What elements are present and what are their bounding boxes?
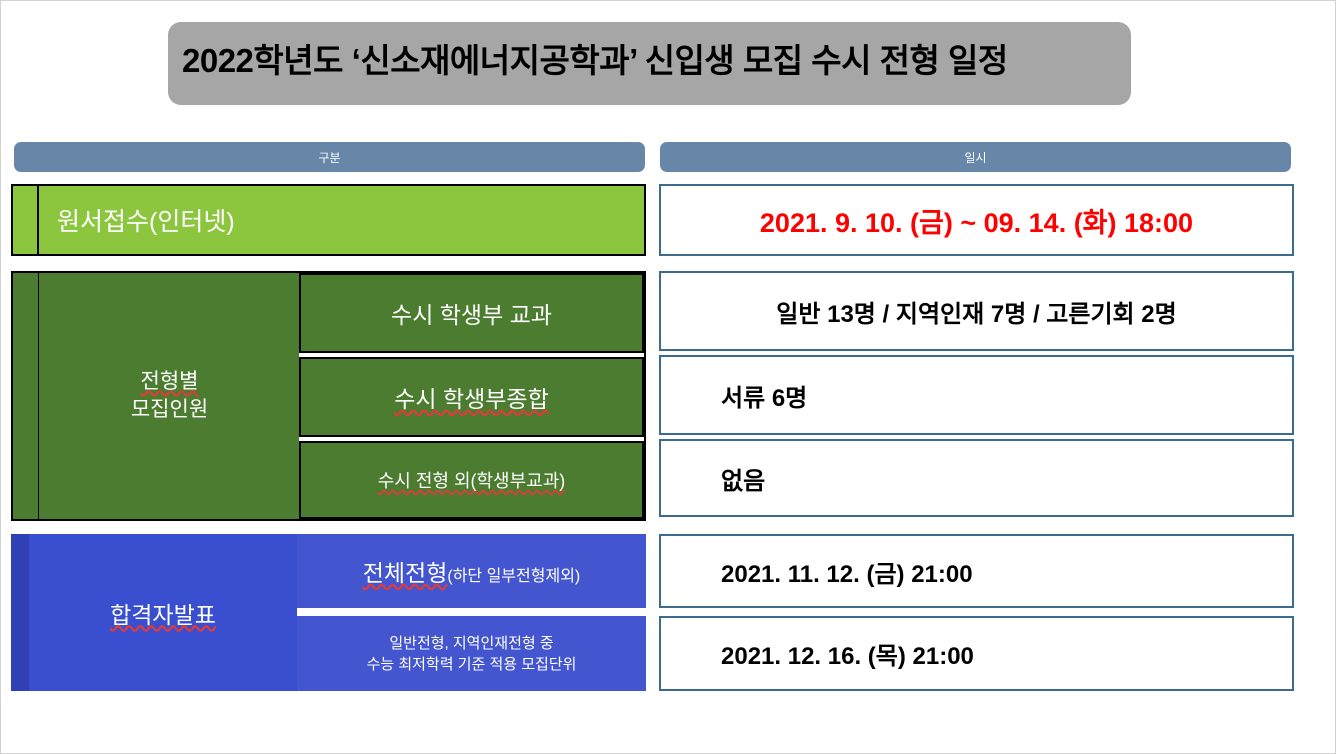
quota-value-other: 없음 (721, 461, 1292, 496)
quota-subcell-susi-gyogwa-label: 수시 학생부 교과 (391, 296, 552, 330)
slide-page: 2022학년도 ‘신소재에너지공학과’ 신입생 모집 수시 전형 일정 구분 일… (0, 0, 1336, 754)
column-header-datetime: 일시 (660, 142, 1291, 172)
quota-value-gyogwa: 일반 13명 / 지역인재 7명 / 고른기회 2명 (661, 294, 1292, 329)
row-announcement-label: 합격자발표 (29, 534, 297, 691)
announcement-subcell-all: 전체전형(하단 일부전형제외) (297, 534, 646, 608)
quota-subcell-susi-jonghap: 수시 학생부종합 (299, 357, 644, 437)
announcement-subcell-minimum-line2: 수능 최저학력 기준 적용 모집단위 (367, 656, 577, 673)
row-application-accent-bar (13, 186, 39, 254)
row-quota-subcells: 수시 학생부 교과 수시 학생부종합 수시 전형 외(학생부교과) (299, 273, 644, 519)
row-quota-label-block: 전형별 모집인원 수시 학생부 교과 수시 학생부종합 수시 전형 외(학생부교… (11, 271, 646, 521)
row-announcement-accent-bar (11, 534, 29, 691)
announcement-value-all: 2021. 11. 12. (금) 21:00 (721, 554, 1292, 589)
row-application-label-block: 원서접수(인터넷) (11, 184, 646, 256)
row-announcement-subcells: 전체전형(하단 일부전형제외) 일반전형, 지역인재전형 중 수능 최저학력 기… (297, 534, 646, 691)
row-announcement-label-block: 합격자발표 전체전형(하단 일부전형제외) 일반전형, 지역인재전형 중 수능 … (11, 534, 646, 691)
quota-value-jonghap: 서류 6명 (721, 378, 1292, 413)
quota-value-box-gyogwa: 일반 13명 / 지역인재 7명 / 고른기회 2명 (659, 271, 1294, 351)
row-application-value: 2021. 9. 10. (금) ~ 09. 14. (화) 18:00 (661, 201, 1292, 240)
row-application-value-box: 2021. 9. 10. (금) ~ 09. 14. (화) 18:00 (659, 184, 1294, 256)
row-quota-accent-bar (13, 273, 39, 519)
quota-value-box-other: 없음 (659, 439, 1294, 517)
row-application-label: 원서접수(인터넷) (51, 186, 644, 254)
announcement-subcell-all-paren: (하단 일부전형제외) (447, 568, 580, 585)
column-header-datetime-label: 일시 (964, 149, 986, 166)
row-quota-label-line1: 전형별 (141, 370, 199, 393)
column-header-classification: 구분 (14, 142, 645, 172)
quota-subcell-susi-other-label: 수시 전형 외(학생부교과) (378, 467, 566, 493)
announcement-value-minimum: 2021. 12. 16. (목) 21:00 (721, 636, 1292, 671)
quota-subcell-susi-jonghap-label: 수시 학생부종합 (394, 380, 549, 414)
row-announcement-label-text: 합격자발표 (110, 596, 216, 630)
announcement-subcell-minimum-line1: 일반전형, 지역인재전형 중 (389, 635, 553, 652)
announcement-subcell-minimum: 일반전형, 지역인재전형 중 수능 최저학력 기준 적용 모집단위 (297, 616, 646, 691)
announcement-value-box-minimum: 2021. 12. 16. (목) 21:00 (659, 616, 1294, 691)
quota-value-box-jonghap: 서류 6명 (659, 355, 1294, 435)
quota-subcell-susi-gyogwa: 수시 학생부 교과 (299, 273, 644, 353)
row-quota-label: 전형별 모집인원 (40, 273, 299, 519)
announcement-value-box-all: 2021. 11. 12. (금) 21:00 (659, 534, 1294, 608)
announcement-subcell-all-main: 전체전형 (363, 560, 448, 586)
title-banner: 2022학년도 ‘신소재에너지공학과’ 신입생 모집 수시 전형 일정 (168, 22, 1131, 105)
page-title: 2022학년도 ‘신소재에너지공학과’ 신입생 모집 수시 전형 일정 (182, 34, 1112, 82)
quota-subcell-susi-other: 수시 전형 외(학생부교과) (299, 441, 644, 519)
column-header-classification-label: 구분 (318, 149, 340, 166)
row-quota-label-line2: 모집인원 (131, 398, 208, 421)
